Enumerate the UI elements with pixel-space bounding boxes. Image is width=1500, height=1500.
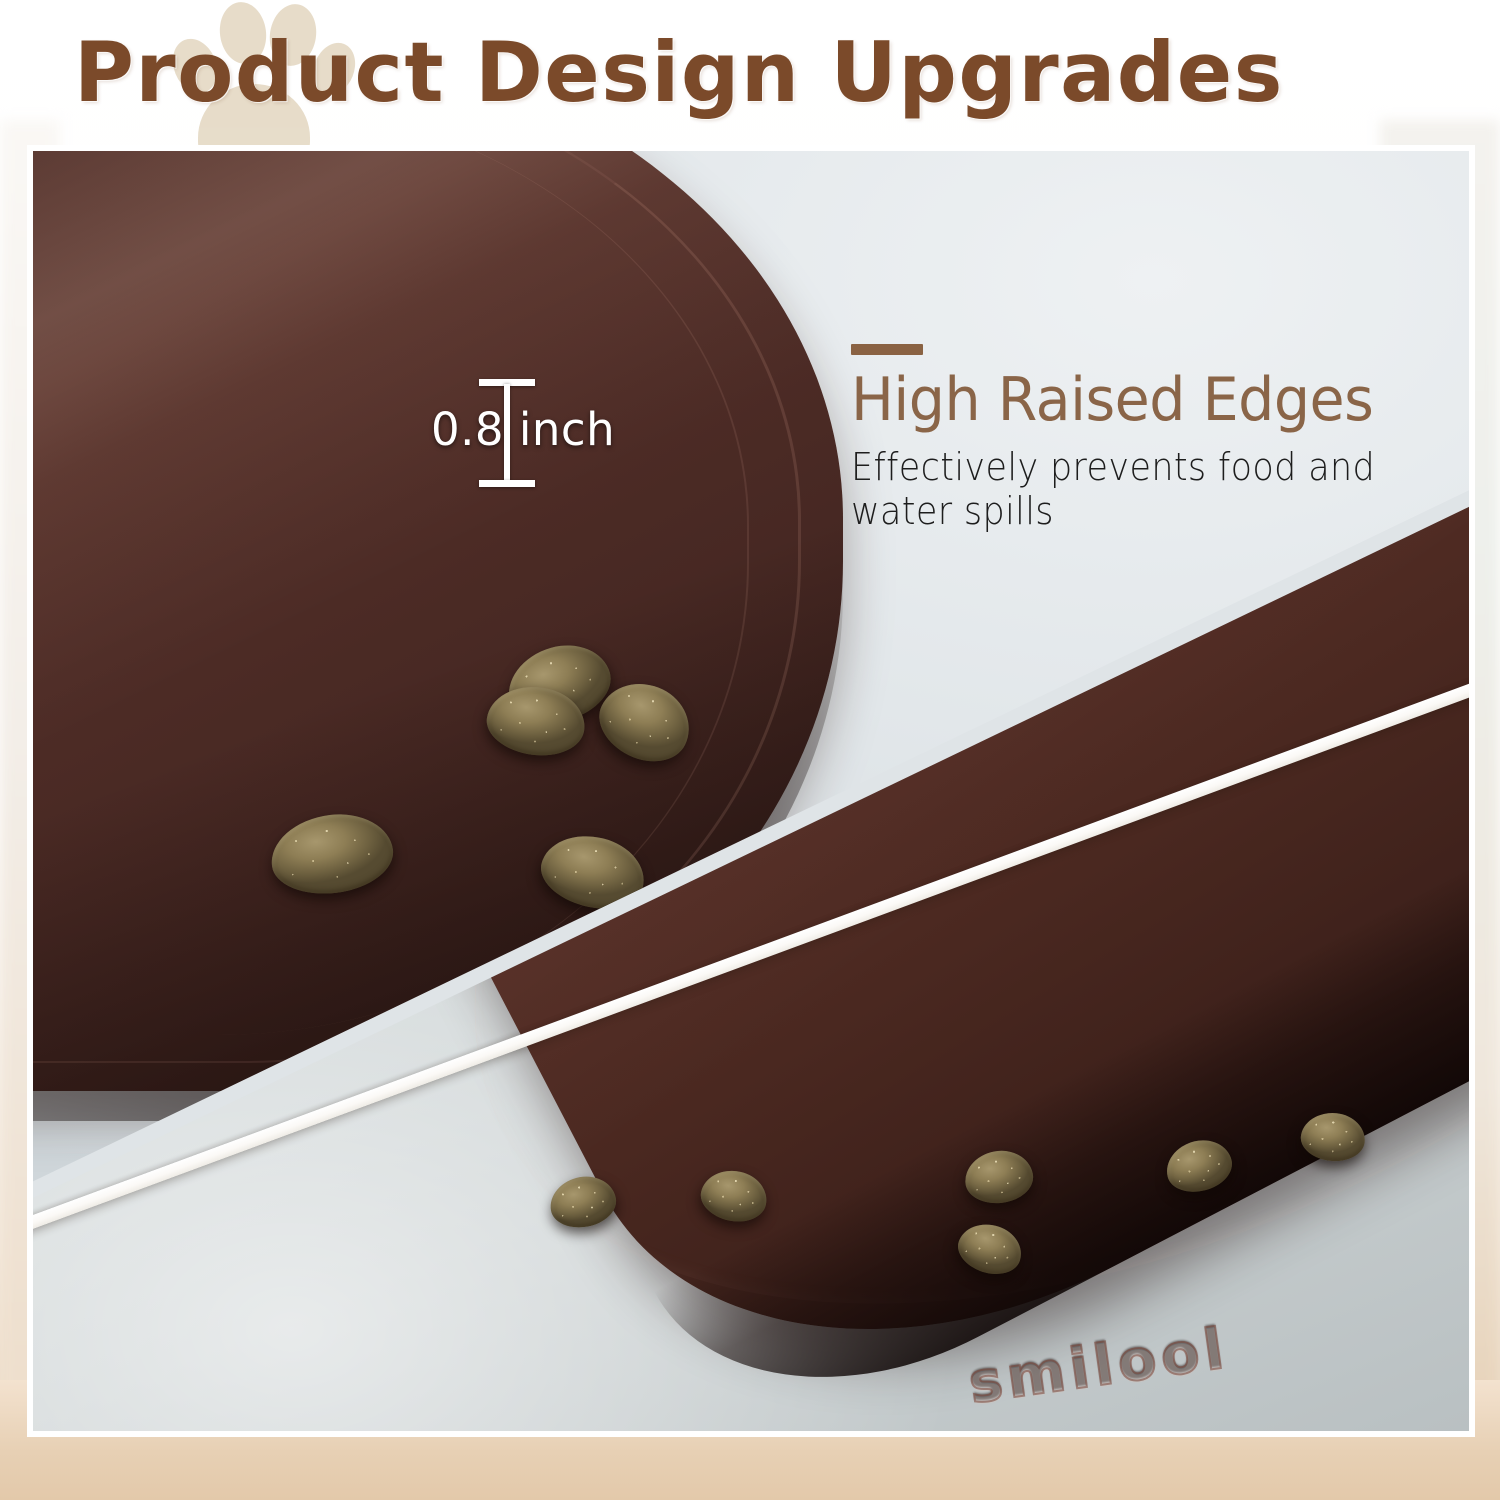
- dimension-label: 0.8 inch: [431, 403, 615, 456]
- header-banner: Product Design Upgrades: [0, 0, 1500, 145]
- callout-high-raised-edges: High Raised Edges Effectively prevents f…: [851, 344, 1469, 534]
- product-photo: 0.8 inch High Raised Edges Effectively p…: [33, 151, 1469, 1431]
- callout-subtitle: Effectively prevents food and water spil…: [851, 445, 1421, 535]
- product-photo-frame: 0.8 inch High Raised Edges Effectively p…: [27, 145, 1475, 1437]
- page-root: Product Design Upgrades: [0, 0, 1500, 1500]
- callout-title: High Raised Edges: [851, 369, 1440, 433]
- callout-rule: [851, 344, 923, 355]
- page-title: Product Design Upgrades: [74, 24, 1284, 121]
